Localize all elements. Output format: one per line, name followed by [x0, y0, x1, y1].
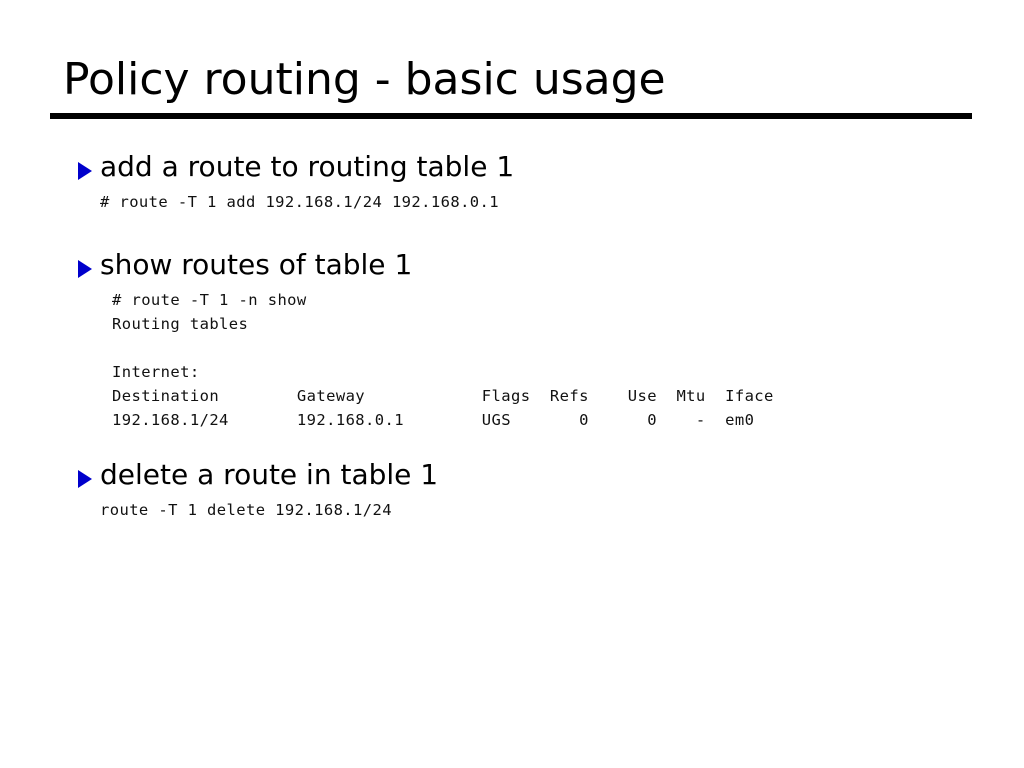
route-table-header: Destination Gateway Flags Refs Use Mtu I…	[0, 384, 1024, 408]
bullet-label: delete a route in table 1	[100, 458, 438, 492]
page-title: Policy routing - basic usage	[63, 54, 666, 106]
bullet-item: add a route to routing table 1	[0, 150, 1024, 184]
spacer	[0, 214, 1024, 248]
slide: Policy routing - basic usage add a route…	[0, 0, 1024, 768]
bullet-section-add-route: add a route to routing table 1 # route -…	[0, 150, 1024, 214]
route-table-section-label: Internet:	[0, 360, 1024, 384]
code-line: # route -T 1 add 192.168.1/24 192.168.0.…	[0, 190, 1024, 214]
code-line: route -T 1 delete 192.168.1/24	[0, 498, 1024, 522]
bullet-section-show-routes: show routes of table 1 # route -T 1 -n s…	[0, 248, 1024, 432]
triangle-right-icon	[78, 470, 92, 488]
route-table-row: 192.168.1/24 192.168.0.1 UGS 0 0 - em0	[0, 408, 1024, 432]
bullet-section-delete-route: delete a route in table 1 route -T 1 del…	[0, 458, 1024, 522]
bullet-label: add a route to routing table 1	[100, 150, 514, 184]
slide-body: add a route to routing table 1 # route -…	[0, 150, 1024, 522]
bullet-label: show routes of table 1	[100, 248, 412, 282]
code-line: Routing tables	[0, 312, 1024, 336]
triangle-right-icon	[78, 260, 92, 278]
code-blank-line	[0, 336, 1024, 360]
code-line: # route -T 1 -n show	[0, 288, 1024, 312]
spacer	[0, 432, 1024, 458]
title-divider	[50, 113, 972, 119]
triangle-right-icon	[78, 162, 92, 180]
bullet-item: delete a route in table 1	[0, 458, 1024, 492]
bullet-item: show routes of table 1	[0, 248, 1024, 282]
